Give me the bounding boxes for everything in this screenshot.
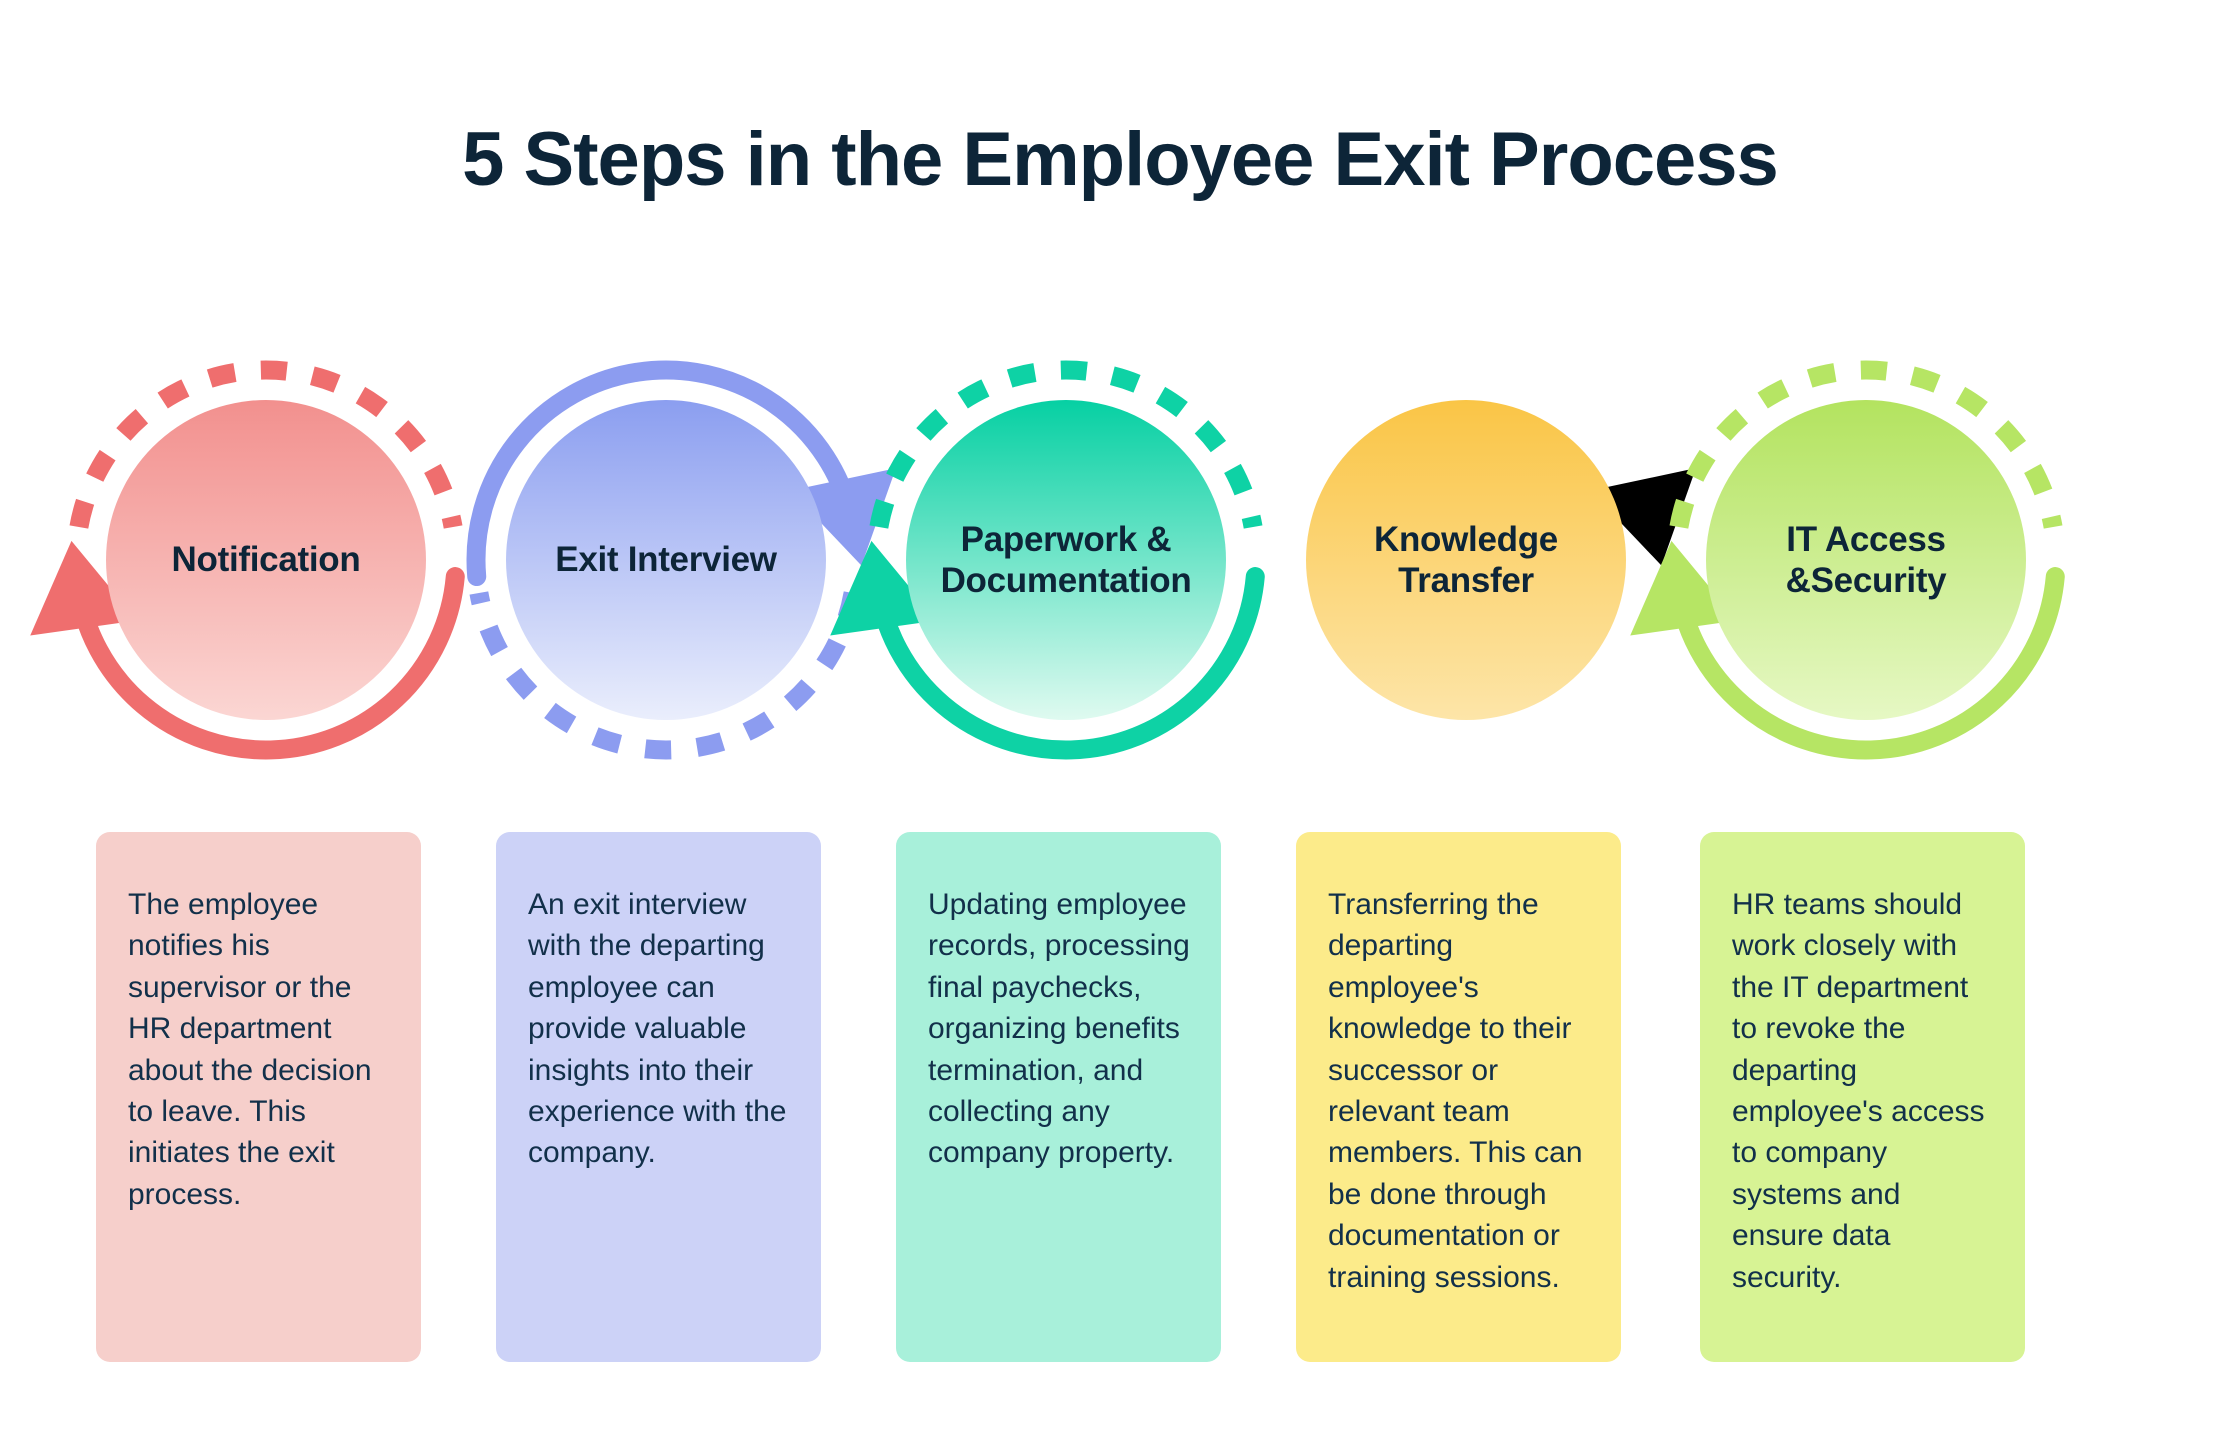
description-text-5: HR teams should work closely with the IT… — [1732, 884, 1997, 1298]
step-circle-4[interactable]: Knowledge Transfer — [1306, 400, 1626, 720]
step-circle-2[interactable]: Exit Interview — [506, 400, 826, 720]
description-card-1[interactable]: The employee notifies his supervisor or … — [96, 832, 421, 1362]
step-circle-3[interactable]: Paperwork & Documentation — [906, 400, 1226, 720]
process-step-5[interactable]: IT Access &Security — [1636, 330, 2096, 790]
description-cards-row: The employee notifies his supervisor or … — [0, 832, 2240, 1362]
description-card-4[interactable]: Transferring the departing employee's kn… — [1296, 832, 1621, 1362]
process-step-4[interactable]: Knowledge Transfer — [1236, 330, 1696, 790]
process-steps-row: NotificationExit InterviewPaperwork & Do… — [0, 330, 2240, 790]
step-circle-5[interactable]: IT Access &Security — [1706, 400, 2026, 720]
description-text-2: An exit interview with the departing emp… — [528, 884, 793, 1174]
step-label-5: IT Access &Security — [1724, 519, 2008, 602]
process-step-3[interactable]: Paperwork & Documentation — [836, 330, 1296, 790]
step-label-4: Knowledge Transfer — [1324, 519, 1608, 602]
description-text-1: The employee notifies his supervisor or … — [128, 884, 393, 1215]
description-card-2[interactable]: An exit interview with the departing emp… — [496, 832, 821, 1362]
process-step-2[interactable]: Exit Interview — [436, 330, 896, 790]
step-label-1: Notification — [172, 539, 361, 580]
step-label-2: Exit Interview — [555, 539, 776, 580]
description-text-4: Transferring the departing employee's kn… — [1328, 884, 1593, 1298]
step-circle-1[interactable]: Notification — [106, 400, 426, 720]
description-text-3: Updating employee records, processing fi… — [928, 884, 1193, 1174]
description-card-3[interactable]: Updating employee records, processing fi… — [896, 832, 1221, 1362]
page-title: 5 Steps in the Employee Exit Process — [0, 118, 2240, 202]
description-card-5[interactable]: HR teams should work closely with the IT… — [1700, 832, 2025, 1362]
process-step-1[interactable]: Notification — [36, 330, 496, 790]
step-label-3: Paperwork & Documentation — [924, 519, 1208, 602]
